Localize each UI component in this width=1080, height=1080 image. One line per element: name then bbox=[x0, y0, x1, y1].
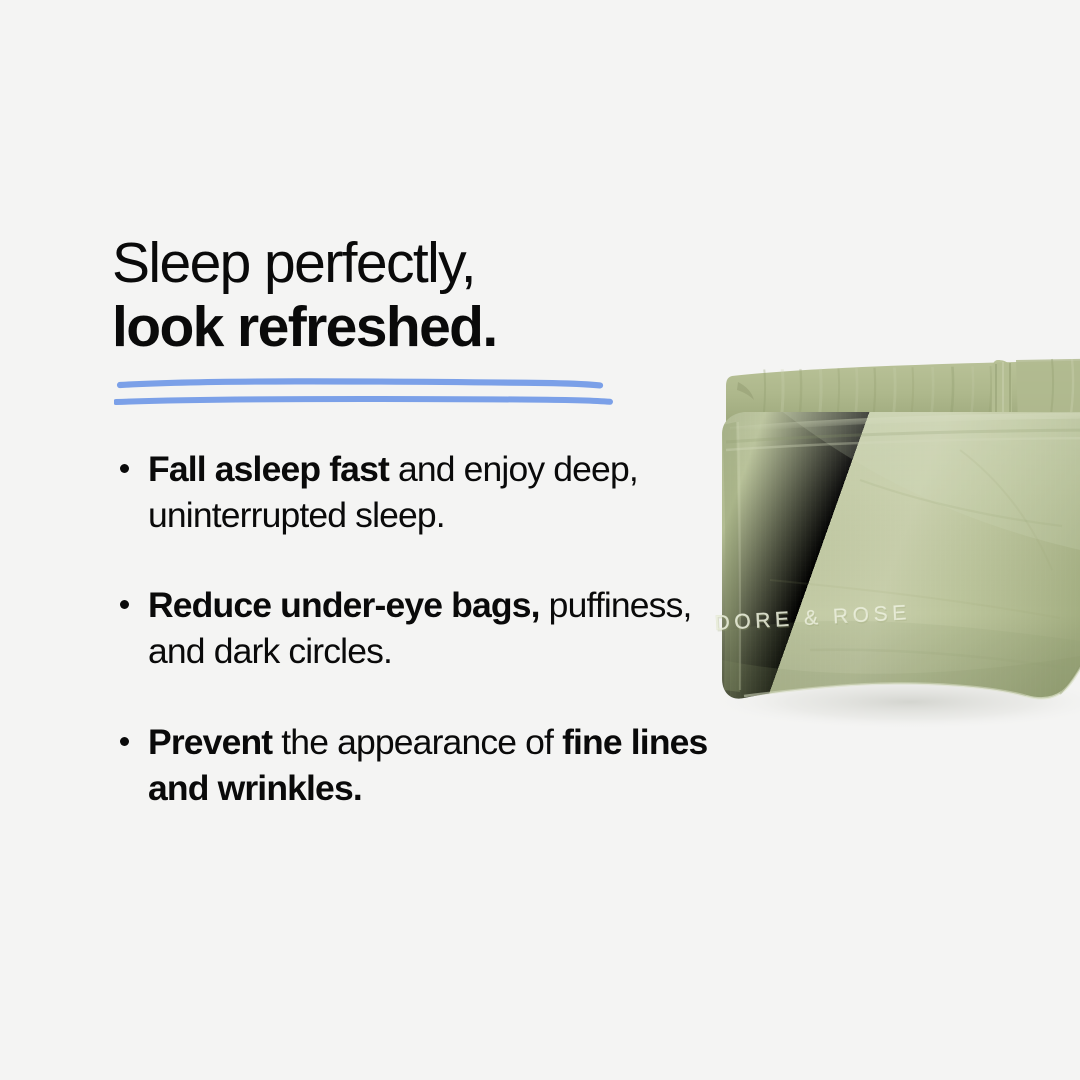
hand-drawn-underline bbox=[114, 372, 614, 416]
benefit-list: Fall asleep fast and enjoy deep, uninter… bbox=[112, 446, 712, 811]
headline-line-1: Sleep perfectly, bbox=[112, 232, 692, 296]
benefit-bold-lead: Fall asleep fast bbox=[148, 449, 389, 489]
bullet-dot-icon bbox=[120, 464, 129, 473]
mask-body bbox=[660, 390, 1080, 722]
benefit-bold-lead: Reduce under-eye bags, bbox=[148, 585, 540, 625]
list-item: Fall asleep fast and enjoy deep, uninter… bbox=[112, 446, 712, 538]
headline-line-2: look refreshed. bbox=[112, 296, 692, 360]
headline-block: Sleep perfectly, look refreshed. bbox=[112, 232, 692, 360]
list-item: Reduce under-eye bags, puffiness, and da… bbox=[112, 582, 712, 674]
benefit-bold-lead: Prevent bbox=[148, 722, 272, 762]
product-image: DORE & ROSE DORE & ROSE DORE & ROSE bbox=[660, 330, 1080, 850]
page-title: Sleep perfectly, look refreshed. bbox=[112, 232, 692, 360]
bullet-dot-icon bbox=[120, 737, 129, 746]
list-item: Prevent the appearance of fine lines and… bbox=[112, 719, 712, 811]
promo-canvas: Sleep perfectly, look refreshed. Fall as… bbox=[0, 0, 1080, 1080]
bullet-dot-icon bbox=[120, 600, 129, 609]
benefit-rest: the appearance of bbox=[272, 722, 562, 762]
